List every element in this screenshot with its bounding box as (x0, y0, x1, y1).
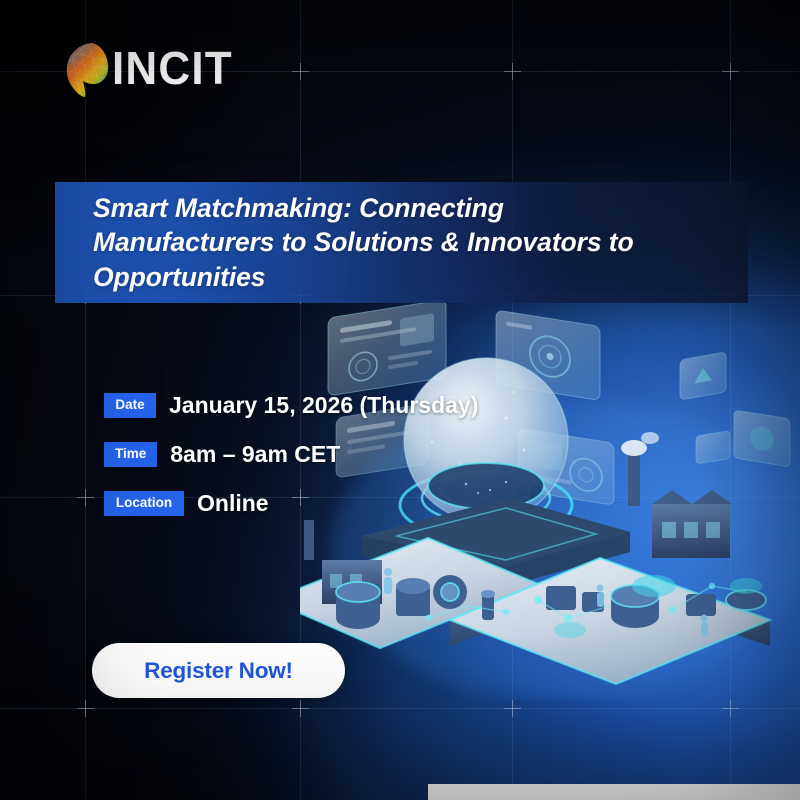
title-banner: Smart Matchmaking: Connecting Manufactur… (55, 182, 748, 303)
bottom-white-strip (428, 784, 800, 800)
butterfly-wing-icon (62, 40, 112, 98)
page-title: Smart Matchmaking: Connecting Manufactur… (55, 191, 695, 294)
grid-cross-marker (292, 700, 309, 717)
time-value: 8am – 9am CET (170, 441, 340, 468)
detail-row-date: Date January 15, 2026 (Thursday) (104, 392, 478, 419)
grid-cross-marker (292, 63, 309, 80)
location-chip-label: Location (104, 491, 184, 516)
grid-cross-marker (722, 63, 739, 80)
date-value: January 15, 2026 (Thursday) (169, 392, 478, 419)
incit-logo[interactable]: INCIT (62, 40, 233, 98)
grid-cross-marker (504, 63, 521, 80)
event-details: Date January 15, 2026 (Thursday) Time 8a… (104, 392, 478, 517)
grid-cross-marker (77, 700, 94, 717)
grid-cross-marker (504, 700, 521, 717)
detail-row-location: Location Online (104, 490, 478, 517)
location-value: Online (197, 490, 269, 517)
incit-logo-text: INCIT (112, 46, 233, 93)
date-chip-label: Date (104, 393, 156, 418)
time-chip-label: Time (104, 442, 157, 467)
register-now-button[interactable]: Register Now! (92, 643, 345, 698)
detail-row-time: Time 8am – 9am CET (104, 441, 478, 468)
event-poster: INCIT Smart Matchmaking: Connecting Manu… (0, 0, 800, 800)
grid-cross-marker (77, 489, 94, 506)
grid-cross-marker (722, 700, 739, 717)
